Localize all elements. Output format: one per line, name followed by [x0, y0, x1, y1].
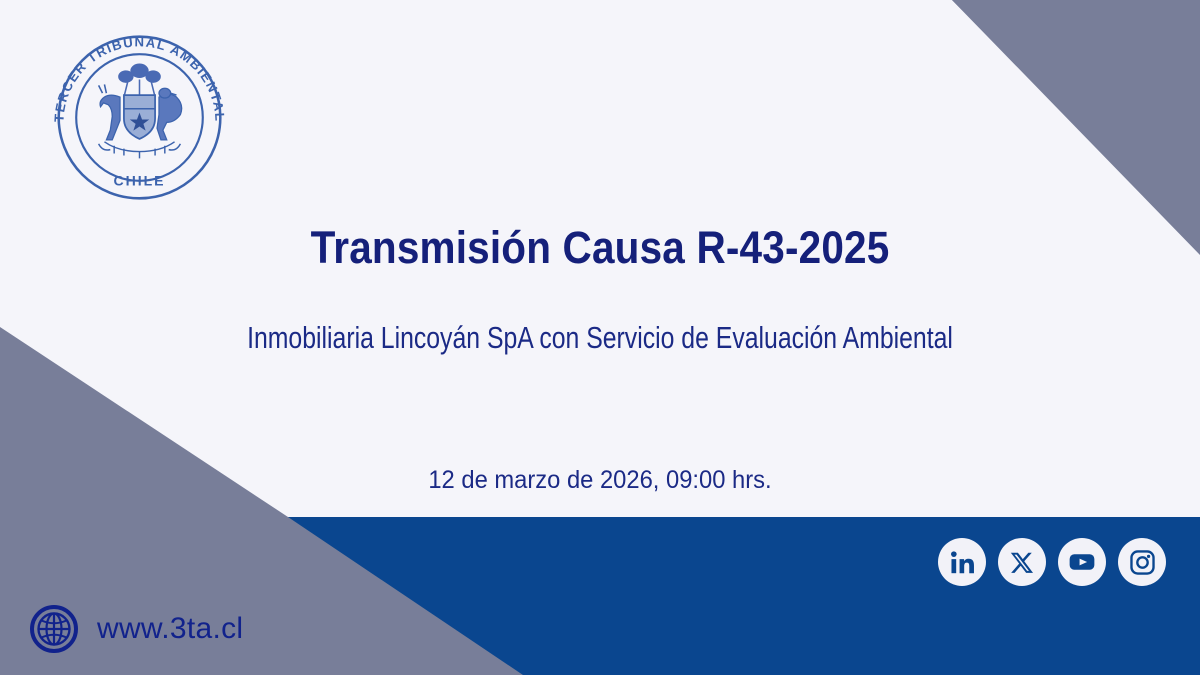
- linkedin-button[interactable]: [938, 538, 986, 586]
- x-twitter-button[interactable]: [998, 538, 1046, 586]
- coat-of-arms-emblem: [99, 64, 182, 158]
- instagram-button[interactable]: [1118, 538, 1166, 586]
- x-twitter-icon: [1010, 550, 1035, 575]
- social-links: [938, 538, 1166, 586]
- youtube-button[interactable]: [1058, 538, 1106, 586]
- website-footer[interactable]: www.3ta.cl: [30, 605, 243, 653]
- youtube-icon: [1068, 548, 1096, 576]
- website-url-text: www.3ta.cl: [97, 612, 243, 646]
- linkedin-icon: [949, 549, 976, 576]
- globe-icon: [30, 605, 78, 653]
- instagram-icon: [1129, 549, 1156, 576]
- seal-text-chile: CHILE: [113, 173, 165, 189]
- announcement-slide: TERCER TRIBUNAL AMBIENTAL CHILE: [0, 0, 1200, 675]
- tribunal-seal-logo: TERCER TRIBUNAL AMBIENTAL CHILE: [42, 25, 237, 210]
